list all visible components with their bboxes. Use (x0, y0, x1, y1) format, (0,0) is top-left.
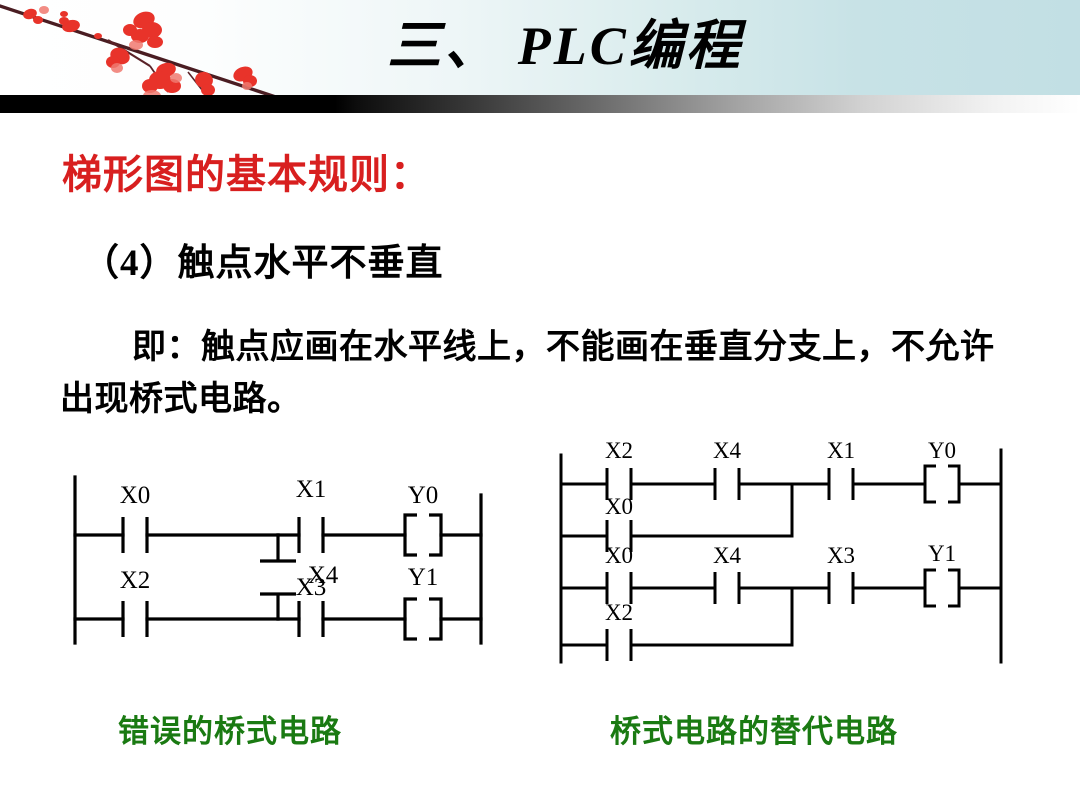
ladder-r-label-y0: Y0 (928, 438, 956, 463)
ladder-r-label-x1: X1 (827, 438, 855, 463)
ladder-r-label-x2-branch: X2 (605, 600, 633, 625)
rule-description-paragraph: 即：触点应画在水平线上，不能画在垂直分支上，不允许出现桥式电路。 (60, 322, 1020, 426)
ladder-label-coil-y0: Y0 (408, 482, 439, 509)
ladder-label-coil-y1: Y1 (408, 564, 439, 591)
ladder-r-label-x3: X3 (827, 543, 855, 568)
rule-item-heading: （4）触点水平不垂直 (82, 232, 444, 286)
plum-blossom-branch-decoration (0, 0, 300, 95)
page-title: 三、 PLC编程 (330, 6, 800, 86)
caption-incorrect-bridge: 错误的桥式电路 (118, 706, 342, 751)
ladder-r-label-x4-b: X4 (713, 543, 742, 568)
ladder-r-label-x2-a: X2 (605, 438, 633, 463)
ladder-diagram-right-svg: X2 X4 X1 Y0 X0 X0 X4 X3 Y1 X2 (545, 430, 1035, 675)
ladder-label-contact-x0: X0 (120, 482, 151, 509)
ladder-diagram-incorrect-bridge: X0 X1 Y0 X2 X3 Y1 X4 (55, 455, 505, 665)
caption-alternative-circuit: 桥式电路的替代电路 (610, 706, 898, 751)
ladder-label-contact-x1: X1 (296, 476, 327, 503)
ladder-label-contact-x2: X2 (120, 567, 151, 594)
ladder-r-label-x0-branch: X0 (605, 494, 633, 519)
ladder-diagram-left-svg: X0 X1 Y0 X2 X3 Y1 X4 (55, 455, 505, 665)
section-heading: 梯形图的基本规则： (62, 142, 431, 200)
ladder-r-label-x4-a: X4 (713, 438, 742, 463)
ladder-r-label-x0-b: X0 (605, 543, 633, 568)
ladder-r-label-y1: Y1 (928, 541, 956, 566)
slide-header: 三、 PLC编程 (0, 0, 1080, 95)
ladder-label-bridge-x4: X4 (308, 562, 339, 589)
ladder-diagram-alternative-circuit: X2 X4 X1 Y0 X0 X0 X4 X3 Y1 X2 (545, 430, 1035, 675)
header-divider-bar (0, 95, 1080, 113)
